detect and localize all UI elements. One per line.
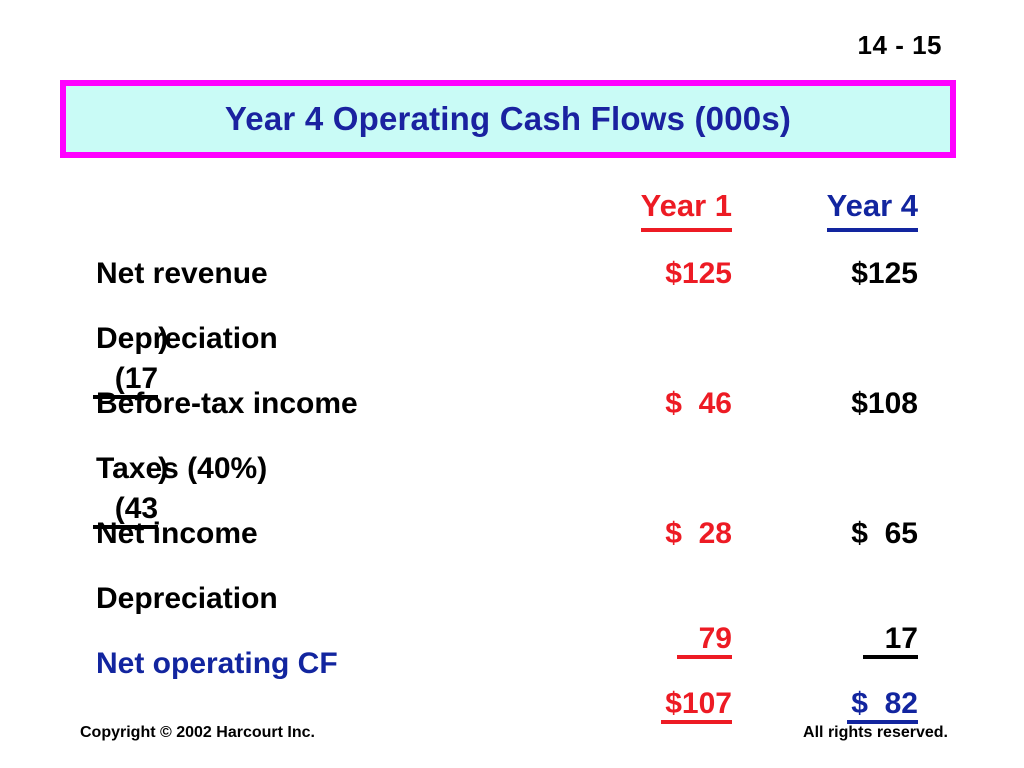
slide: 14 - 15 Year 4 Operating Cash Flows (000… [0,0,1024,768]
table-row: Depreciation (79) (17) [0,319,1024,384]
row-label: Net income [96,514,258,554]
table-row: Net income $ 28 $ 65 [0,514,1024,579]
cell-year1: $ 28 [665,514,732,554]
table-row: Taxes (40%) (18) (43) [0,449,1024,514]
cell-year4-value: $ 82 [847,687,918,724]
table-row: Depreciation 79 17 [0,579,1024,644]
cell-year4-paren: ) [158,319,168,359]
table-row: Net revenue $125 $125 [0,254,1024,319]
rights-text: All rights reserved. [803,724,948,742]
cell-year1-value: $107 [661,687,732,724]
cell-year1: $ 46 [665,384,732,424]
page-number: 14 - 15 [858,30,942,61]
cell-year4: $ 65 [851,514,918,554]
table-row: Before-tax income $ 46 $108 [0,384,1024,449]
column-header-year4: Year 4 [827,186,918,232]
cash-flow-table: Year 1 Year 4 Net revenue $125 $125 Depr… [0,186,1024,709]
copyright-text: Copyright © 2002 Harcourt Inc. [80,724,315,742]
row-label: Net revenue [96,254,268,294]
table-header-row: Year 1 Year 4 [0,186,1024,254]
page-title: Year 4 Operating Cash Flows (000s) [225,100,791,138]
row-label: Net operating CF [96,644,338,684]
title-banner: Year 4 Operating Cash Flows (000s) [60,80,956,158]
slide-footer: Copyright © 2002 Harcourt Inc. All right… [0,724,1024,748]
table-row: Net operating CF $107 $ 82 [0,644,1024,709]
cell-year1: $125 [665,254,732,294]
cell-year4: $125 [851,254,918,294]
column-header-year1: Year 1 [641,186,732,232]
row-label: Before-tax income [96,384,358,424]
cell-year4-paren: ) [158,449,168,489]
cell-year4: $108 [851,384,918,424]
row-label: Depreciation [96,579,278,619]
